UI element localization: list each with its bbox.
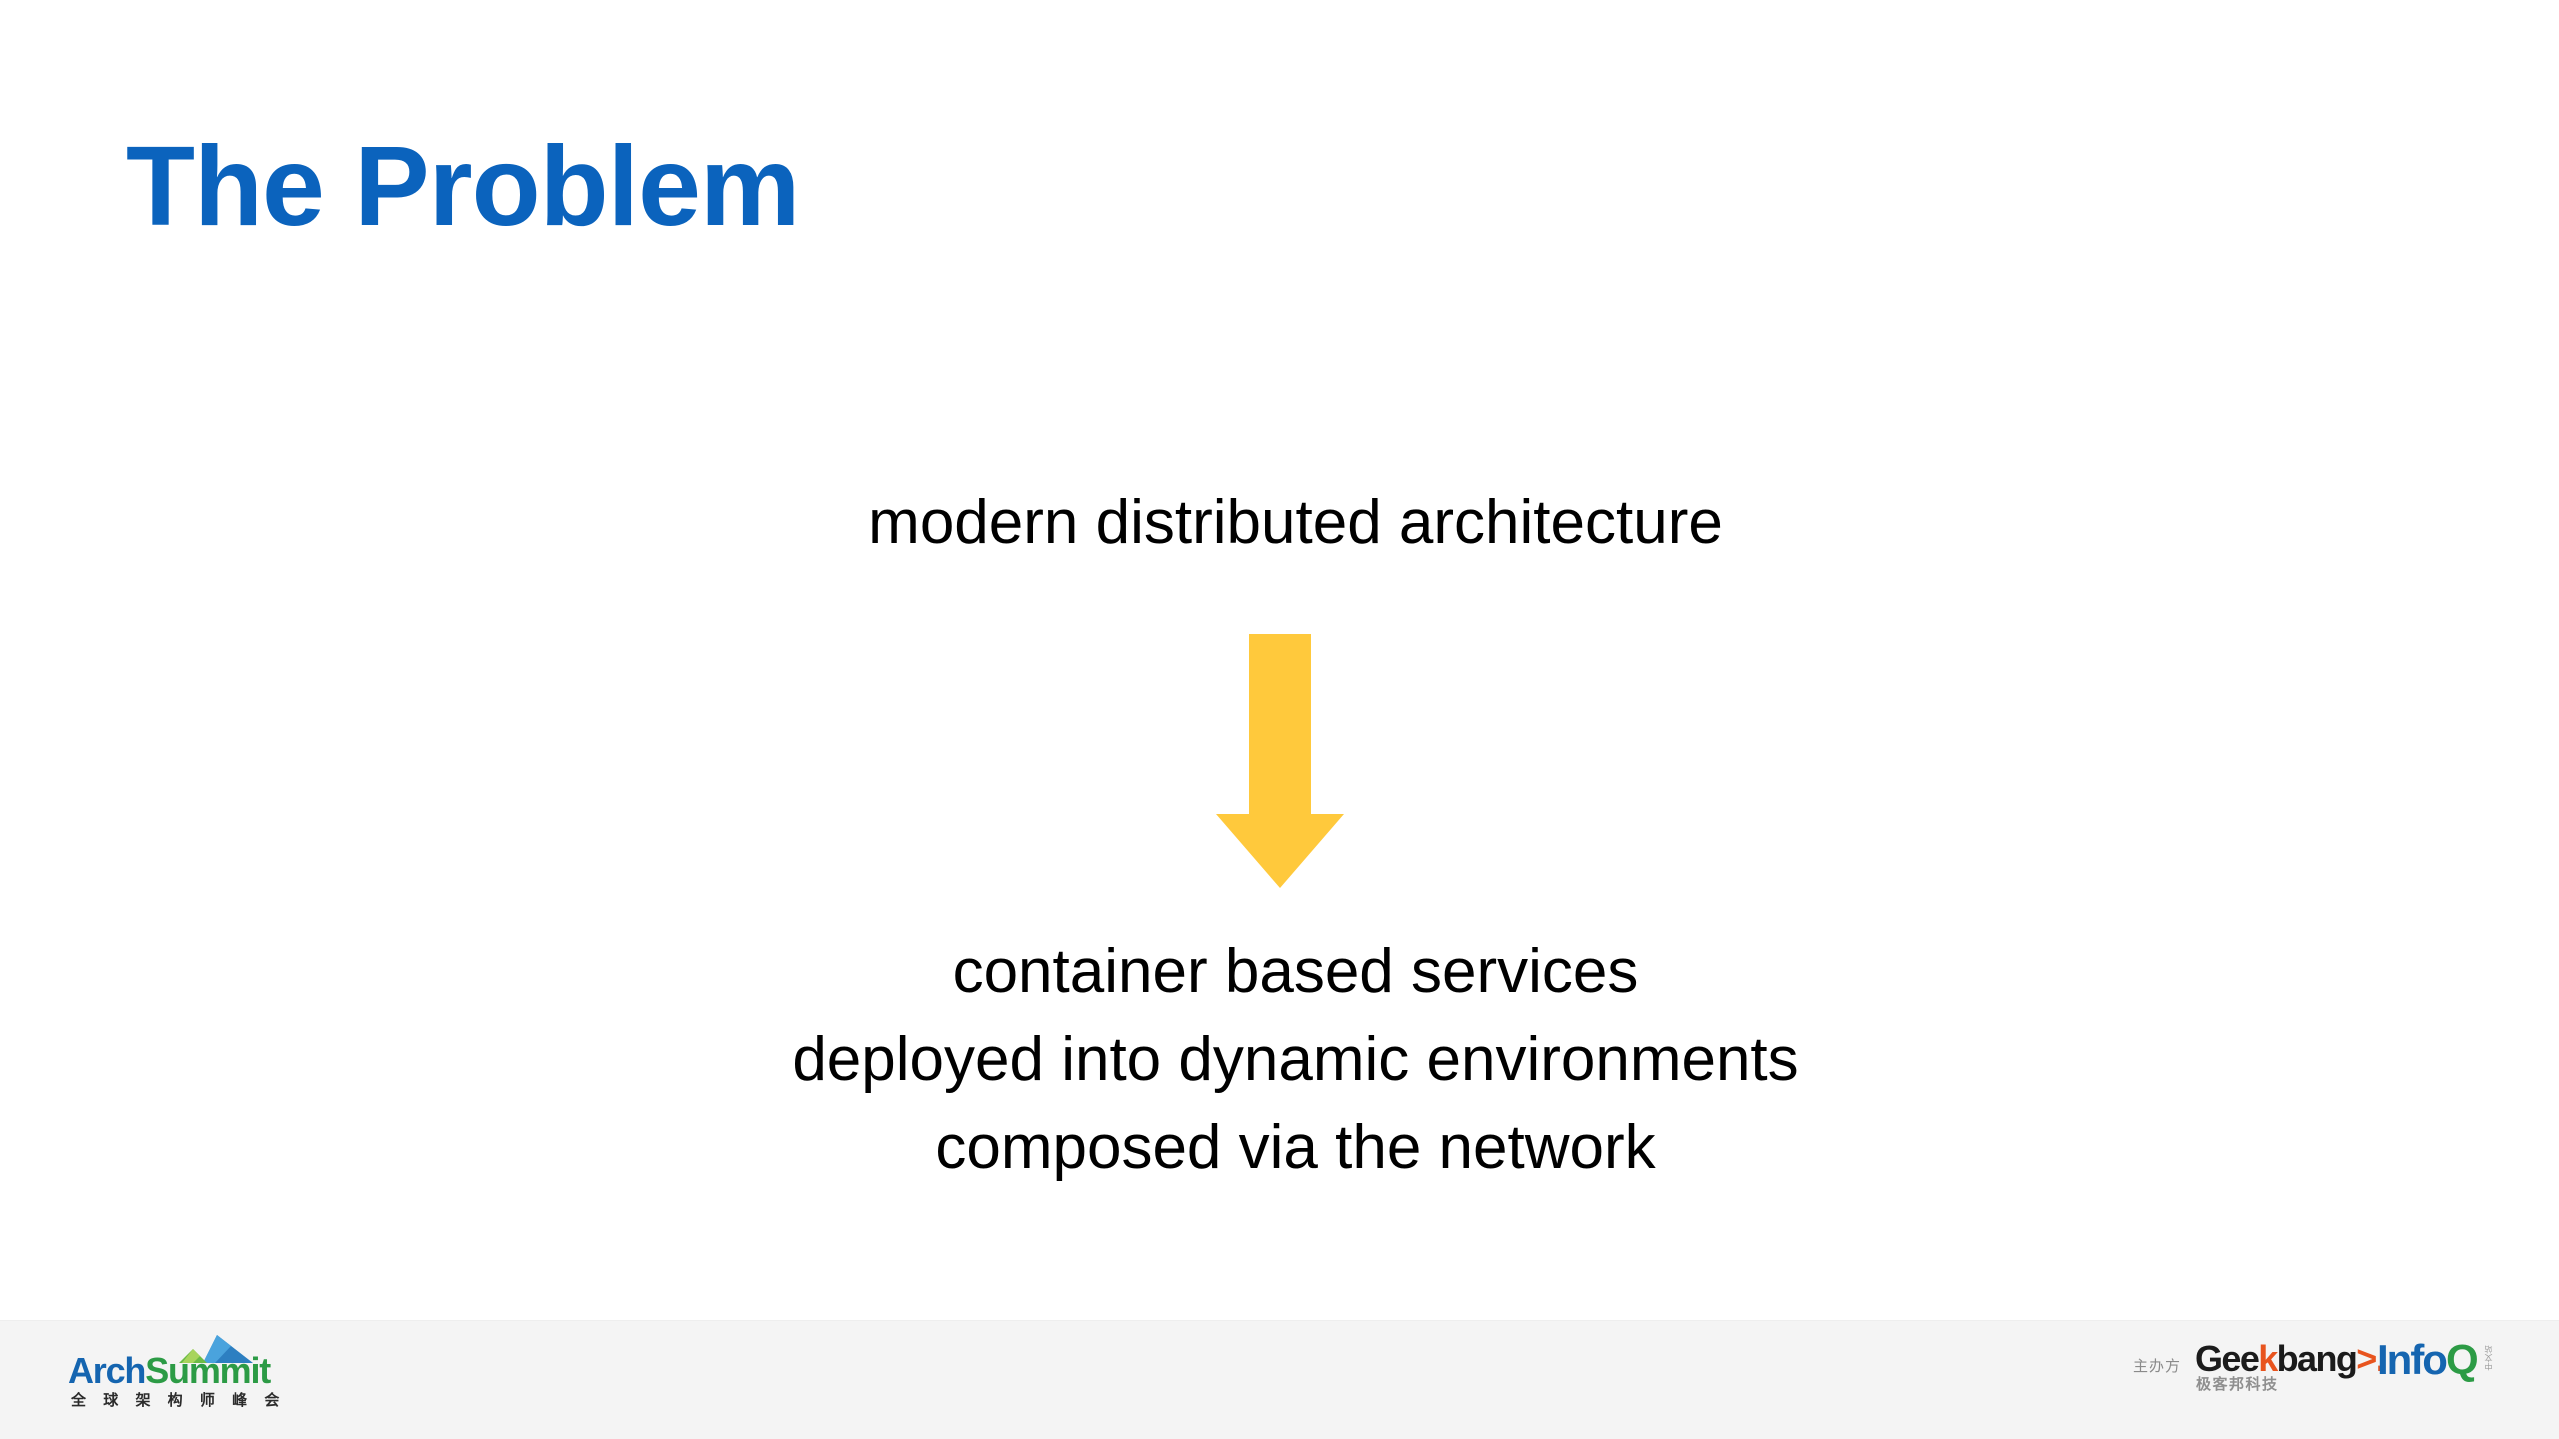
slide-footer: ArchSummit 全 球 架 构 师 峰 会 主办方 Geekbang>. … bbox=[0, 1320, 2559, 1439]
geekbang-wordmark: Geekbang>. bbox=[2195, 1341, 2384, 1377]
geekbang-word-k: k bbox=[2258, 1338, 2276, 1379]
geekbang-chinese-subtitle: 极客邦科技 bbox=[2196, 1377, 2279, 1392]
archsummit-wordmark: ArchSummit bbox=[68, 1353, 270, 1389]
infoq-wordmark: InfoQ bbox=[2377, 1339, 2477, 1381]
infoq-logo: InfoQ 中文站 bbox=[2377, 1339, 2503, 1399]
bottom-statement-line-1: container based services bbox=[16, 928, 2559, 1016]
archsummit-chinese-subtitle: 全 球 架 构 师 峰 会 bbox=[71, 1393, 285, 1408]
slide-title: The Problem bbox=[126, 120, 799, 253]
bottom-statement-line-3: composed via the network bbox=[16, 1104, 2559, 1192]
geekbang-logo: Geekbang>. 极客邦科技 bbox=[2195, 1339, 2361, 1399]
presentation-slide: The Problem modern distributed architect… bbox=[0, 0, 2559, 1439]
bottom-statement-text: container based services deployed into d… bbox=[16, 928, 2559, 1192]
archsummit-word-summit: Summit bbox=[145, 1350, 270, 1391]
sponsor-label: 主办方 bbox=[2133, 1355, 2181, 1376]
geekbang-word-bang: bang bbox=[2277, 1338, 2357, 1379]
geekbang-word-gee: Gee bbox=[2195, 1338, 2258, 1379]
down-arrow-icon bbox=[1216, 634, 1344, 888]
bottom-statement-line-2: deployed into dynamic environments bbox=[16, 1016, 2559, 1104]
top-statement-text: modern distributed architecture bbox=[16, 492, 2559, 554]
sponsor-logos: 主办方 Geekbang>. 极客邦科技 InfoQ 中文站 bbox=[2133, 1339, 2503, 1419]
archsummit-logo: ArchSummit 全 球 架 构 师 峰 会 bbox=[68, 1333, 298, 1425]
infoq-word-info: Info bbox=[2377, 1336, 2446, 1383]
infoq-tagline: 中文站 bbox=[2485, 1345, 2493, 1371]
archsummit-word-arch: Arch bbox=[68, 1350, 145, 1391]
infoq-word-q: Q bbox=[2446, 1336, 2477, 1383]
